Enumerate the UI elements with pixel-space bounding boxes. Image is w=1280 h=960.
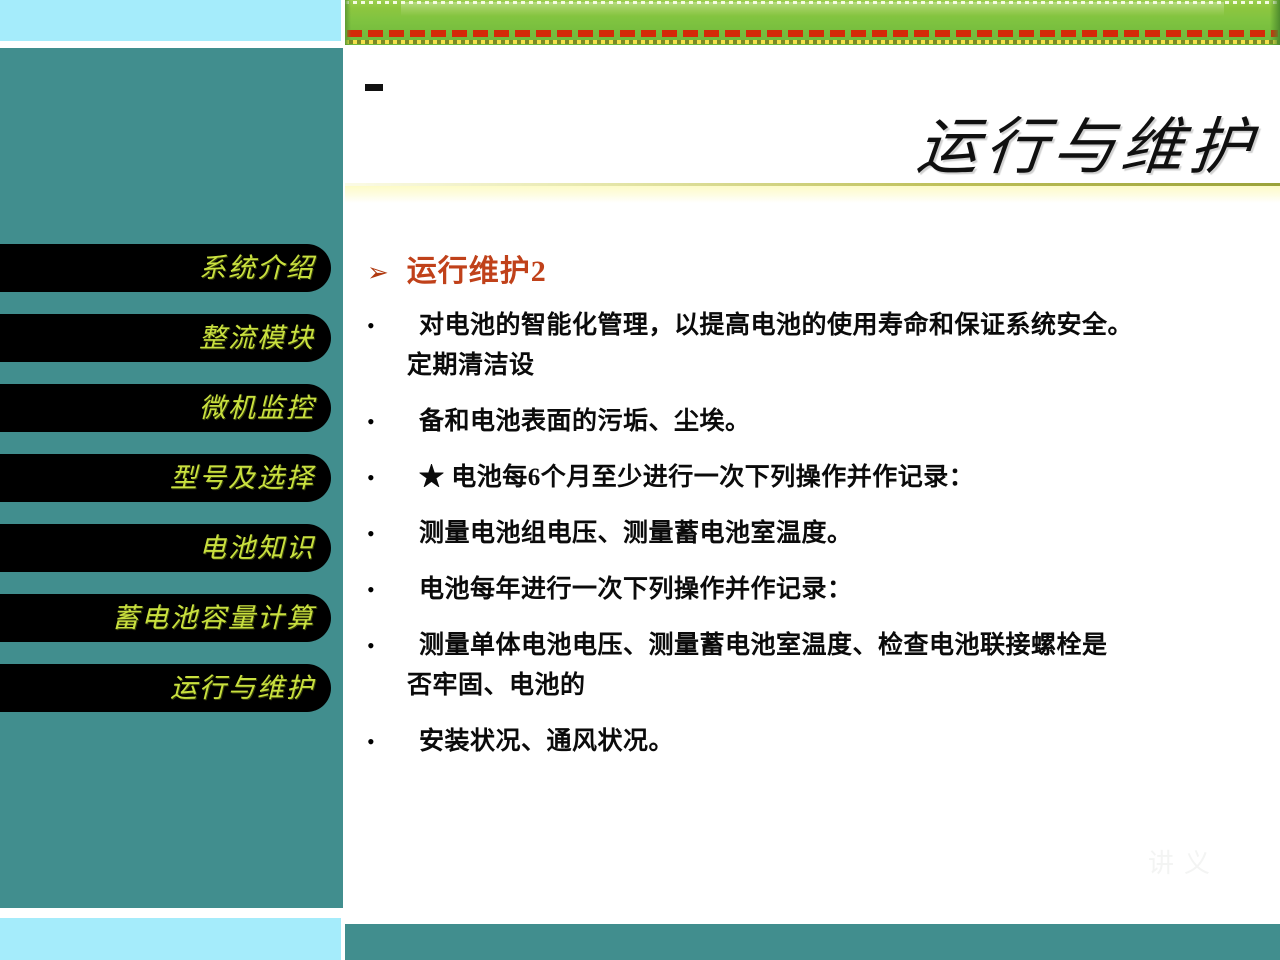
bullet-dot-icon: • (363, 626, 407, 666)
list-item-line: 备和电池表面的污垢、尘埃。 (419, 408, 751, 435)
title-divider-band (345, 183, 1280, 203)
banner-top-dotted-border (345, 1, 1280, 4)
sidebar-item-battery-capacity-calculation[interactable]: 蓄电池容量计算 (0, 594, 331, 642)
bullet-list: • 对电池的智能化管理，以提高电池的使用寿命和保证系统安全。 定期清洁设 • 备… (363, 306, 1252, 778)
list-item-line: 安装状况、通风状况。 (419, 728, 674, 755)
section-heading: ➢ 运行维护2 (367, 246, 547, 290)
list-item-text: 电池每年进行一次下列操作并作记录： (407, 570, 1252, 610)
sidebar-item-label: 系统介绍 (199, 255, 315, 282)
sidebar-item-label: 蓄电池容量计算 (112, 605, 315, 632)
list-item-text: 测量电池组电压、测量蓄电池室温度。 (407, 514, 1252, 554)
sidebar-item-battery-knowledge[interactable]: 电池知识 (0, 524, 331, 572)
list-item-text: 对电池的智能化管理，以提高电池的使用寿命和保证系统安全。 定期清洁设 (407, 306, 1252, 386)
list-item: • 安装状况、通风状况。 (363, 722, 1252, 762)
list-item-line: 测量单体电池电压、测量蓄电池室温度、检查电池联接螺栓是 (419, 632, 1108, 659)
bullet-dot-icon: • (363, 514, 407, 554)
bullet-dot-icon: • (363, 458, 407, 498)
sidebar-item-label: 运行与维护 (170, 675, 315, 702)
list-item-text: 备和电池表面的污垢、尘埃。 (407, 402, 1252, 442)
bullet-dot-icon: • (363, 306, 407, 346)
arrow-bullet-icon: ➢ (367, 260, 389, 286)
sidebar-item-label: 型号及选择 (170, 465, 315, 492)
section-heading-label: 运行维护2 (407, 246, 547, 290)
banner-sheen (401, 2, 1224, 16)
banner-red-dashed-line (347, 30, 1278, 37)
list-item-line: 定期清洁设 (407, 352, 535, 379)
list-item: • ★ 电池每6个月至少进行一次下列操作并作记录： (363, 458, 1252, 498)
list-item: • 测量单体电池电压、测量蓄电池室温度、检查电池联接螺栓是 否牢固、电池的 (363, 626, 1252, 706)
sidebar-item-label: 整流模块 (199, 325, 315, 352)
list-item-line: 测量电池组电压、测量蓄电池室温度。 (419, 520, 853, 547)
bullet-dot-icon: • (363, 722, 407, 762)
watermark: 讲义 (1148, 843, 1220, 880)
title-dash-mark (365, 84, 383, 91)
banner-right-edge-shade (1270, 0, 1280, 45)
sidebar-item-model-selection[interactable]: 型号及选择 (0, 454, 331, 502)
slide-content: 运行与维护 ➢ 运行维护2 • 对电池的智能化管理，以提高电池的使用寿命和保证系… (345, 48, 1280, 924)
sidebar-item-rectifier-module[interactable]: 整流模块 (0, 314, 331, 362)
bullet-dot-icon: • (363, 570, 407, 610)
top-left-cyan-bar (0, 0, 341, 41)
banner-bottom-dotted-border (345, 40, 1280, 44)
list-item-text: 安装状况、通风状况。 (407, 722, 1252, 762)
banner-left-edge-shade (345, 0, 351, 45)
list-item-line: ★ 电池每6个月至少进行一次下列操作并作记录： (419, 464, 974, 491)
list-item: • 电池每年进行一次下列操作并作记录： (363, 570, 1252, 610)
list-item: • 对电池的智能化管理，以提高电池的使用寿命和保证系统安全。 定期清洁设 (363, 306, 1252, 386)
top-green-banner (345, 0, 1280, 45)
page-title: 运行与维护 (913, 96, 1262, 186)
list-item-line: 电池每年进行一次下列操作并作记录： (419, 576, 853, 603)
list-item: • 测量电池组电压、测量蓄电池室温度。 (363, 514, 1252, 554)
sidebar-item-label: 微机监控 (199, 395, 315, 422)
presentation-slide: 系统介绍 整流模块 微机监控 型号及选择 电池知识 蓄电池容量计算 运行与维护 (0, 0, 1280, 960)
bottom-teal-bar (345, 924, 1280, 960)
sidebar-item-label: 电池知识 (199, 535, 315, 562)
list-item-line: 对电池的智能化管理，以提高电池的使用寿命和保证系统安全。 (419, 312, 1133, 339)
list-item-line: 否牢固、电池的 (407, 672, 586, 699)
bottom-left-cyan-bar (0, 918, 341, 960)
sidebar-item-system-intro[interactable]: 系统介绍 (0, 244, 331, 292)
list-item: • 备和电池表面的污垢、尘埃。 (363, 402, 1252, 442)
divider-gradient (345, 186, 1280, 203)
list-item-text: ★ 电池每6个月至少进行一次下列操作并作记录： (407, 458, 1252, 498)
sidebar-item-microcomputer-monitoring[interactable]: 微机监控 (0, 384, 331, 432)
sidebar-item-operation-maintenance[interactable]: 运行与维护 (0, 664, 331, 712)
list-item-text: 测量单体电池电压、测量蓄电池室温度、检查电池联接螺栓是 否牢固、电池的 (407, 626, 1252, 706)
left-sidebar: 系统介绍 整流模块 微机监控 型号及选择 电池知识 蓄电池容量计算 运行与维护 (0, 48, 343, 908)
sidebar-nav-list: 系统介绍 整流模块 微机监控 型号及选择 电池知识 蓄电池容量计算 运行与维护 (0, 244, 343, 734)
bullet-dot-icon: • (363, 402, 407, 442)
